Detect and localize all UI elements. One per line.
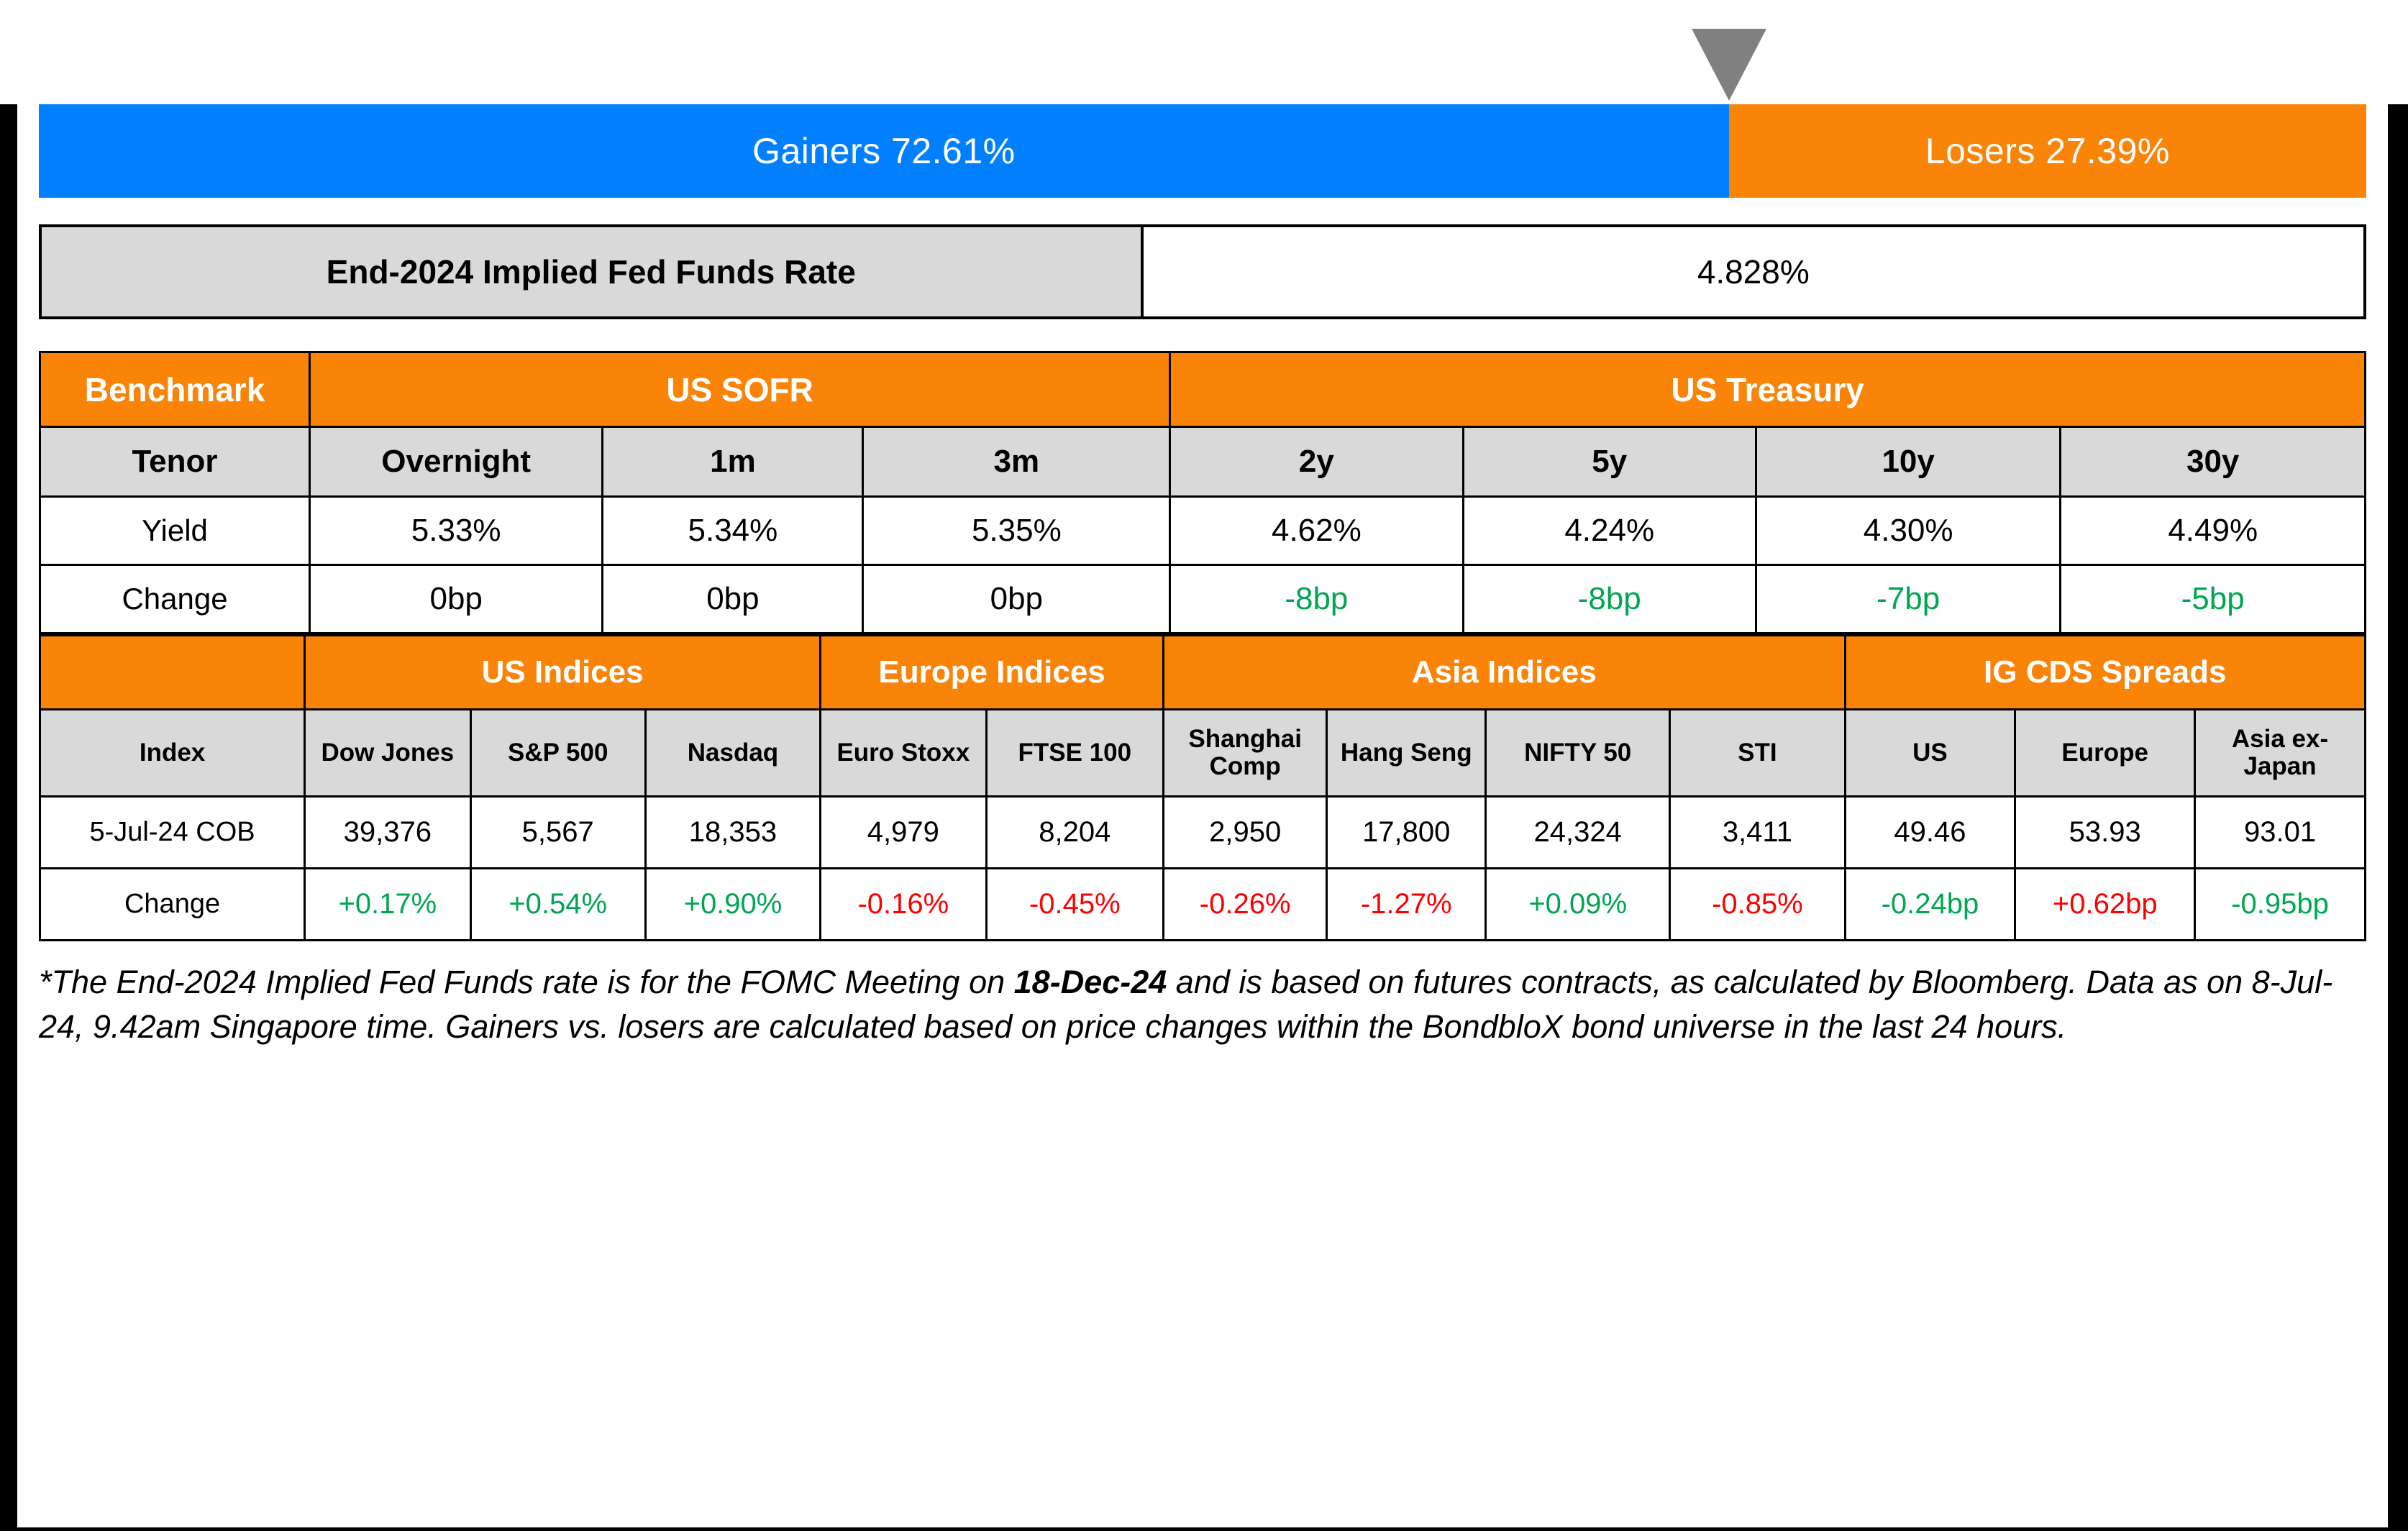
gainers-losers-section: Gainers 72.61% Losers 27.39% xyxy=(39,104,2366,198)
losers-label: Losers 27.39% xyxy=(1925,130,2170,172)
indices-change-value: -0.16% xyxy=(821,869,986,941)
indices-change-value: -1.27% xyxy=(1327,869,1486,941)
yield-value: 4.30% xyxy=(1756,497,2061,565)
footnote-fomc-date: 18-Dec-24 xyxy=(1014,964,1167,1000)
cob-value: 49.46 xyxy=(1845,797,2015,869)
yield-value: 5.35% xyxy=(863,497,1170,565)
cob-value: 4,979 xyxy=(821,797,986,869)
cob-value: 24,324 xyxy=(1486,797,1670,869)
indices-change-value: +0.62bp xyxy=(2015,869,2195,941)
yield-row-label: Yield xyxy=(40,497,310,565)
gainers-label: Gainers 72.61% xyxy=(752,130,1016,172)
tenor-header-1m: 1m xyxy=(603,427,863,497)
benchmark-change-value: 0bp xyxy=(310,565,603,634)
column-header-asia-ex-japan: Asia ex-Japan xyxy=(2195,710,2366,797)
yield-value: 5.34% xyxy=(603,497,863,565)
indices-change-value: -0.95bp xyxy=(2195,869,2366,941)
yield-value: 4.62% xyxy=(1170,497,1463,565)
group-header-ig-cds-spreads: IG CDS Spreads xyxy=(1845,636,2365,710)
indices-group-header-row: US IndicesEurope IndicesAsia IndicesIG C… xyxy=(40,636,2366,710)
indices-cds-table: US IndicesEurope IndicesAsia IndicesIG C… xyxy=(39,634,2366,941)
indices-cob-row: 5-Jul-24 COB 39,3765,56718,3534,9798,204… xyxy=(40,797,2366,869)
down-triangle-marker-icon xyxy=(1692,29,1766,101)
group-header-us-indices: US Indices xyxy=(305,636,821,710)
index-row-label: Index xyxy=(40,710,305,797)
losers-segment: Losers 27.39% xyxy=(1729,104,2366,198)
indices-corner-label xyxy=(40,636,305,710)
cob-value: 3,411 xyxy=(1670,797,1845,869)
tenor-row-label: Tenor xyxy=(40,427,310,497)
column-header-sti: STI xyxy=(1670,710,1845,797)
column-header-shanghai-comp: Shanghai Comp xyxy=(1164,710,1327,797)
column-header-us: US xyxy=(1845,710,2015,797)
group-header-us-treasury: US Treasury xyxy=(1170,352,2366,427)
cob-value: 17,800 xyxy=(1327,797,1486,869)
benchmark-change-value: 0bp xyxy=(863,565,1170,634)
tenor-header-5y: 5y xyxy=(1463,427,1756,497)
indices-change-value: -0.85% xyxy=(1670,869,1845,941)
indices-change-value: -0.45% xyxy=(986,869,1163,941)
column-header-ftse-100: FTSE 100 xyxy=(986,710,1163,797)
yield-value: 4.49% xyxy=(2061,497,2366,565)
tenor-header-10y: 10y xyxy=(1756,427,2061,497)
gainers-losers-bar: Gainers 72.61% Losers 27.39% xyxy=(39,104,2366,198)
group-header-europe-indices: Europe Indices xyxy=(821,636,1164,710)
yield-row: Yield 5.33%5.34%5.35%4.62%4.24%4.30%4.49… xyxy=(40,497,2366,565)
cob-value: 39,376 xyxy=(305,797,470,869)
indices-change-row-label: Change xyxy=(40,869,305,941)
gainers-segment: Gainers 72.61% xyxy=(39,104,1729,198)
column-header-s-p-500: S&P 500 xyxy=(470,710,645,797)
benchmark-change-value: -5bp xyxy=(2061,565,2366,634)
tenor-header-2y: 2y xyxy=(1170,427,1463,497)
fed-funds-value: 4.828% xyxy=(1142,226,2366,318)
cob-value: 18,353 xyxy=(645,797,820,869)
fed-funds-row: End-2024 Implied Fed Funds Rate 4.828% xyxy=(40,226,2365,318)
column-header-hang-seng: Hang Seng xyxy=(1327,710,1486,797)
benchmark-change-value: -8bp xyxy=(1170,565,1463,634)
column-header-euro-stoxx: Euro Stoxx xyxy=(821,710,986,797)
indices-change-row: Change +0.17%+0.54%+0.90%-0.16%-0.45%-0.… xyxy=(40,869,2366,941)
fed-funds-label: End-2024 Implied Fed Funds Rate xyxy=(40,226,1142,318)
benchmark-change-row-label: Change xyxy=(40,565,310,634)
indices-column-header-row: Index Dow JonesS&P 500NasdaqEuro StoxxFT… xyxy=(40,710,2366,797)
market-snapshot-page: Gainers 72.61% Losers 27.39% End-2024 Im… xyxy=(0,104,2408,1531)
indices-change-value: -0.26% xyxy=(1164,869,1327,941)
tenor-header-30y: 30y xyxy=(2061,427,2366,497)
benchmark-group-header-row: Benchmark US SOFR US Treasury xyxy=(40,352,2366,427)
fed-funds-table: End-2024 Implied Fed Funds Rate 4.828% xyxy=(39,224,2366,319)
benchmark-change-row: Change 0bp0bp0bp-8bp-8bp-7bp-5bp xyxy=(40,565,2366,634)
cob-value: 5,567 xyxy=(470,797,645,869)
cob-value: 93.01 xyxy=(2195,797,2366,869)
group-header-us-sofr: US SOFR xyxy=(310,352,1170,427)
indices-change-value: +0.54% xyxy=(470,869,645,941)
column-header-dow-jones: Dow Jones xyxy=(305,710,470,797)
tenor-header-row: Tenor Overnight1m3m2y5y10y30y xyxy=(40,427,2366,497)
benchmark-change-value: -8bp xyxy=(1463,565,1756,634)
indices-change-value: +0.90% xyxy=(645,869,820,941)
cob-value: 8,204 xyxy=(986,797,1163,869)
indices-change-value: -0.24bp xyxy=(1845,869,2015,941)
group-header-asia-indices: Asia Indices xyxy=(1164,636,1845,710)
indices-change-value: +0.17% xyxy=(305,869,470,941)
column-header-nasdaq: Nasdaq xyxy=(645,710,820,797)
column-header-nifty-50: NIFTY 50 xyxy=(1486,710,1670,797)
column-header-europe: Europe xyxy=(2015,710,2195,797)
yield-value: 5.33% xyxy=(310,497,603,565)
cob-value: 2,950 xyxy=(1164,797,1327,869)
benchmark-change-value: -7bp xyxy=(1756,565,2061,634)
benchmark-change-value: 0bp xyxy=(603,565,863,634)
cob-value: 53.93 xyxy=(2015,797,2195,869)
benchmark-rates-table: Benchmark US SOFR US Treasury Tenor Over… xyxy=(39,351,2366,634)
footnote-text: *The End-2024 Implied Fed Funds rate is … xyxy=(39,960,2366,1049)
indices-change-value: +0.09% xyxy=(1486,869,1670,941)
benchmark-corner-label: Benchmark xyxy=(40,352,310,427)
tenor-header-3m: 3m xyxy=(863,427,1170,497)
cob-row-label: 5-Jul-24 COB xyxy=(40,797,305,869)
yield-value: 4.24% xyxy=(1463,497,1756,565)
tenor-header-overnight: Overnight xyxy=(310,427,603,497)
